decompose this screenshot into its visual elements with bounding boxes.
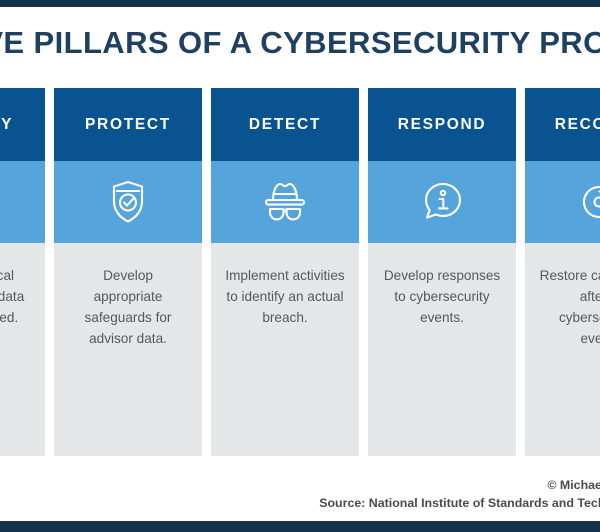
pillar-card-protect[interactable]: PROTECT Develop appropriate safeguards f… [54, 88, 202, 456]
pillar-icon-band-respond [368, 161, 516, 243]
source-text: Source: National Institute of Standards … [0, 496, 600, 510]
speech-bubble-info-icon [418, 178, 466, 226]
pillar-header-recover: RECOVER [525, 88, 600, 161]
footer-credits: © Michael Kitces Source: National Instit… [0, 478, 600, 520]
pillar-icon-band-detect [211, 161, 359, 243]
pillar-label-recover: RECOVER [555, 116, 600, 134]
pillar-icon-band-protect [54, 161, 202, 243]
cybersecurity-pillars-infographic: FIVE PILLARS OF A CYBERSECURITY PROGRAM … [0, 0, 600, 532]
pillar-body-text-protect: Develop appropriate safeguards for advis… [68, 265, 188, 349]
pillar-card-row: IDENTIFY Identify critical systems and d… [0, 88, 600, 456]
copyright-text: © Michael Kitces [0, 478, 600, 492]
pillar-header-identify: IDENTIFY [0, 88, 45, 161]
pillar-header-respond: RESPOND [368, 88, 516, 161]
pillar-label-respond: RESPOND [398, 116, 487, 134]
pillar-body-respond: Develop responses to cybersecurity event… [368, 243, 516, 456]
detective-hat-glasses-icon [258, 178, 312, 226]
pillar-card-identify[interactable]: IDENTIFY Identify critical systems and d… [0, 88, 45, 456]
pillar-body-text-recover: Restore capabilities after a cybersecuri… [539, 265, 600, 349]
bottom-rule [0, 521, 600, 532]
pillar-body-protect: Develop appropriate safeguards for advis… [54, 243, 202, 456]
pillar-header-protect: PROTECT [54, 88, 202, 161]
pillar-card-recover[interactable]: RECOVER Restore capabilities after a cyb… [525, 88, 600, 456]
pillar-card-respond[interactable]: RESPOND Develop responses to cybersecuri… [368, 88, 516, 456]
top-rule [0, 0, 600, 7]
pillar-body-text-respond: Develop responses to cybersecurity event… [382, 265, 502, 328]
pillar-body-text-detect: Implement activities to identify an actu… [225, 265, 345, 328]
pillar-body-text-identify: Identify critical systems and data to be… [0, 265, 31, 328]
pillar-header-detect: DETECT [211, 88, 359, 161]
pillar-icon-band-recover [525, 161, 600, 243]
pillar-label-protect: PROTECT [85, 116, 171, 134]
pillar-card-detect[interactable]: DETECT Implement activities to identify … [211, 88, 359, 456]
pillar-body-recover: Restore capabilities after a cybersecuri… [525, 243, 600, 456]
page-title: FIVE PILLARS OF A CYBERSECURITY PROGRAM [0, 14, 600, 72]
pillar-label-detect: DETECT [249, 116, 321, 134]
pillar-body-detect: Implement activities to identify an actu… [211, 243, 359, 456]
pillar-icon-band-identify [0, 161, 45, 243]
shield-check-icon [104, 178, 152, 226]
title-container: FIVE PILLARS OF A CYBERSECURITY PROGRAM [0, 14, 600, 72]
pillar-body-identify: Identify critical systems and data to be… [0, 243, 45, 456]
pillar-label-identify: IDENTIFY [0, 116, 13, 134]
refresh-arrow-icon [575, 178, 600, 226]
